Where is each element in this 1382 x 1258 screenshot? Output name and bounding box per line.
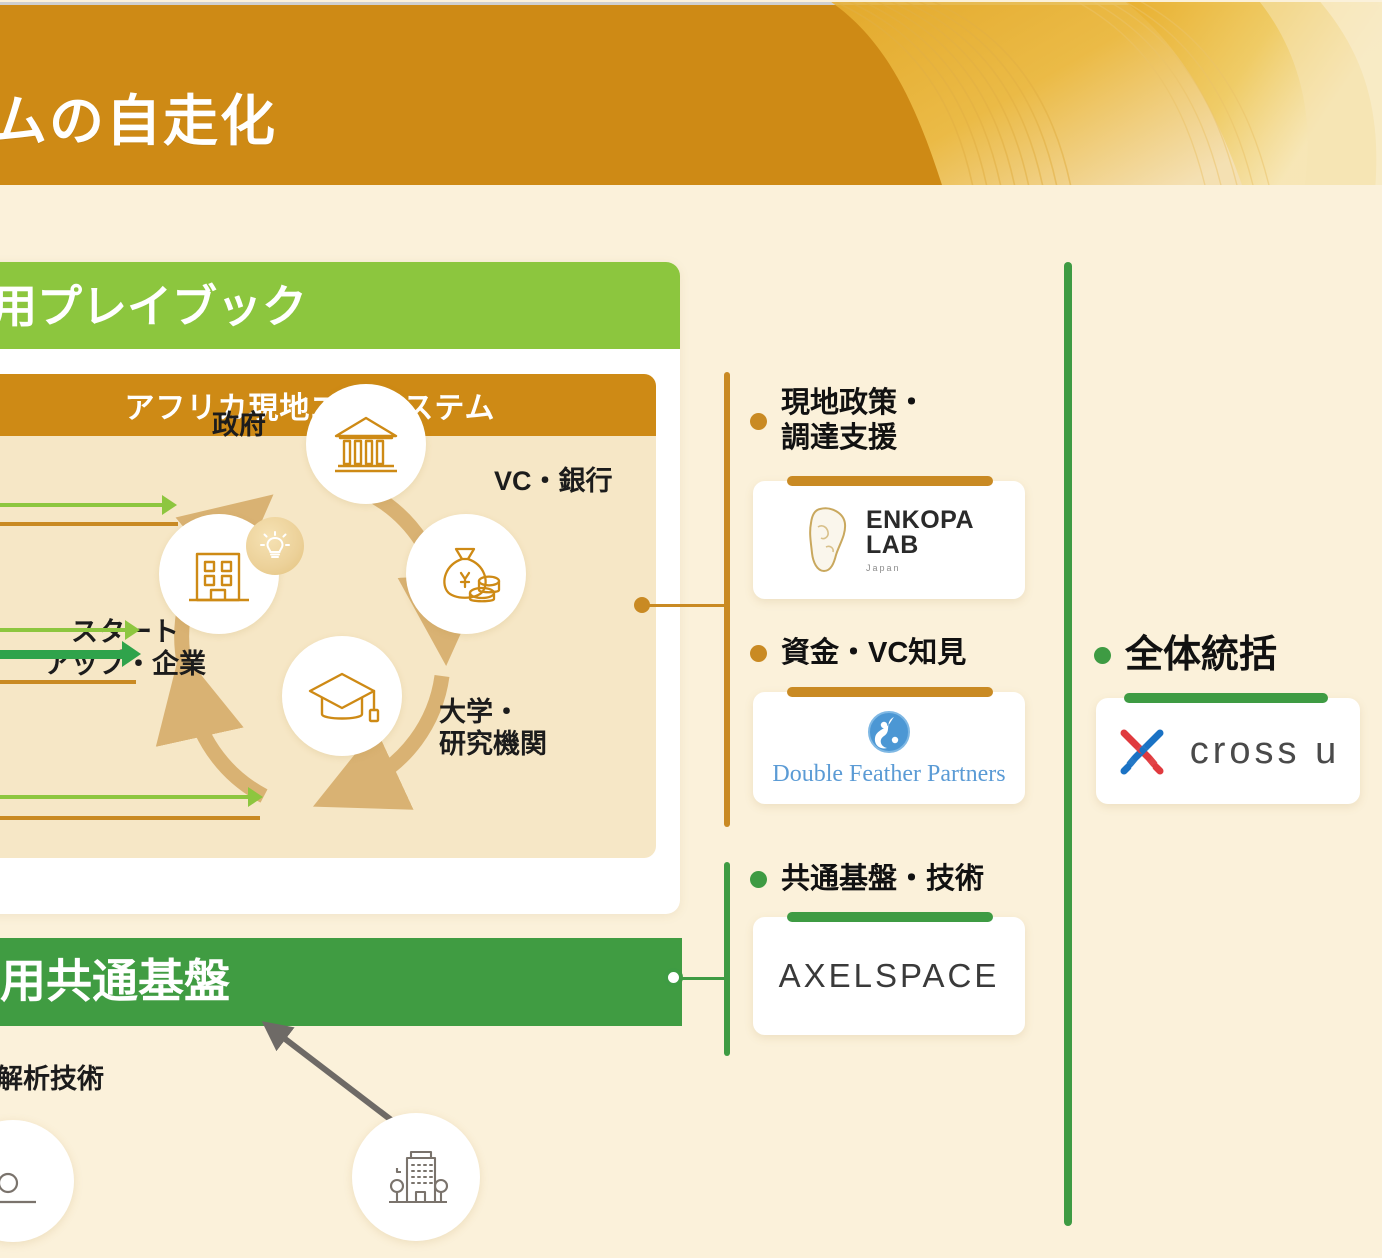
node-government-circle xyxy=(306,384,426,504)
orange-connector-bar xyxy=(724,372,730,827)
bullet-orange-icon xyxy=(750,413,767,430)
flow-arrow-uni-green-head xyxy=(248,787,263,807)
logo-card-cross-u[interactable]: cross u xyxy=(1096,698,1360,804)
enkopa-sub: Japan xyxy=(866,563,974,573)
group-title-overall: 全体統括 xyxy=(1094,632,1277,678)
swoosh-svg xyxy=(602,2,1382,185)
flow-arrow-startup-green xyxy=(0,628,125,632)
enkopa-line1: ENKOPA xyxy=(866,508,974,534)
office-building-icon xyxy=(183,538,255,610)
bullet-green-icon xyxy=(750,871,767,888)
logo-card-axelspace[interactable]: AXELSPACE xyxy=(753,917,1025,1035)
flow-arrow-startup-green-head xyxy=(125,620,140,640)
platform-title: 用共通基盤 xyxy=(0,956,230,1007)
bottom-circle-left xyxy=(0,1120,74,1242)
cross-u-logo: cross u xyxy=(1116,725,1340,777)
logo-card-double-feather-partners[interactable]: Double Feather Partners xyxy=(753,692,1025,804)
cross-u-text: cross u xyxy=(1190,730,1340,773)
bullet-green-icon-2 xyxy=(1094,647,1111,664)
enkopa-logo: ENKOPA LAB Japan xyxy=(804,505,974,575)
flow-arrow-gov-green xyxy=(0,503,162,507)
africa-shape-icon xyxy=(804,505,852,575)
city-building-icon xyxy=(377,1138,455,1216)
bottom-circle-right xyxy=(352,1113,480,1241)
green-connector-bar xyxy=(724,862,730,1056)
axelspace-text: AXELSPACE xyxy=(779,957,1000,995)
orange-connector-line xyxy=(646,604,726,607)
government-building-icon xyxy=(330,408,402,480)
flow-line-startup-orange xyxy=(0,680,136,684)
group-label-common-platform: 共通基盤・技術 xyxy=(781,862,984,897)
group-title-local-policy: 現地政策・ 調達支援 xyxy=(750,386,926,457)
slide-header: ムの自走化 xyxy=(0,2,1382,185)
page-title: ムの自走化 xyxy=(0,94,277,149)
group-label-local-policy: 現地政策・ 調達支援 xyxy=(781,386,926,457)
flow-line-uni-orange xyxy=(0,816,260,820)
bullet-orange-icon-2 xyxy=(750,645,767,662)
slide-canvas: ムの自走化 用プレイブック アフリカ現地エコシステム xyxy=(0,0,1382,1258)
enkopa-line2: LAB xyxy=(866,533,974,559)
node-university-circle xyxy=(282,636,402,756)
card-accent-bar-green xyxy=(787,912,993,922)
group-label-local-policy-line2: 調達支援 xyxy=(781,421,926,456)
money-bag-coins-icon xyxy=(429,537,503,611)
flow-line-gov-orange xyxy=(0,522,178,526)
graduation-cap-icon xyxy=(304,658,380,734)
ecosystem-panel: アフリカ現地エコシステム xyxy=(0,374,656,858)
innovation-bulb-badge xyxy=(246,517,304,575)
enkopa-text-block: ENKOPA LAB Japan xyxy=(866,508,974,573)
platform-bar: 用共通基盤 xyxy=(0,938,682,1026)
card-accent-bar-orange-2 xyxy=(787,687,993,697)
label-government: 政府 xyxy=(212,410,266,442)
group-title-common-platform: 共通基盤・技術 xyxy=(750,862,984,897)
double-feather-text: Double Feather Partners xyxy=(772,761,1005,788)
label-vc-bank: VC・銀行 xyxy=(494,466,613,498)
globe-feather-icon xyxy=(866,709,912,755)
orange-connector-dot xyxy=(634,597,650,613)
header-decorative-swoosh xyxy=(602,2,1382,185)
label-university: 大学・ 研究機関 xyxy=(439,697,547,761)
flow-arrow-gov-green-head xyxy=(162,495,177,515)
group-label-funding-vc: 資金・VC知見 xyxy=(781,636,966,671)
label-university-line1: 大学・ xyxy=(439,697,547,729)
group-label-local-policy-line1: 現地政策・ xyxy=(781,386,926,421)
playbook-title: 用プレイブック xyxy=(0,282,307,332)
flow-arrow-uni-green xyxy=(0,795,248,799)
cross-x-icon xyxy=(1116,725,1168,777)
platform-subtitle: タ・解析技術 xyxy=(0,1057,104,1096)
node-vc-bank-circle xyxy=(406,514,526,634)
label-university-line2: 研究機関 xyxy=(439,729,547,761)
logo-card-enkopa-lab[interactable]: ENKOPA LAB Japan xyxy=(753,481,1025,599)
partial-icon-left xyxy=(0,1146,48,1216)
playbook-header-bar: 用プレイブック xyxy=(0,262,680,349)
green-connector-dot xyxy=(664,968,683,987)
vertical-section-divider xyxy=(1064,262,1072,1226)
card-accent-bar-green-2 xyxy=(1124,693,1328,703)
double-feather-logo: Double Feather Partners xyxy=(772,709,1005,788)
group-label-overall: 全体統括 xyxy=(1125,632,1277,678)
flow-arrow-startup-green-bold xyxy=(0,650,122,659)
lightbulb-icon xyxy=(258,529,292,563)
flow-arrow-startup-green-bold-head xyxy=(122,641,141,667)
group-title-funding-vc: 資金・VC知見 xyxy=(750,636,966,671)
card-accent-bar-orange xyxy=(787,476,993,486)
